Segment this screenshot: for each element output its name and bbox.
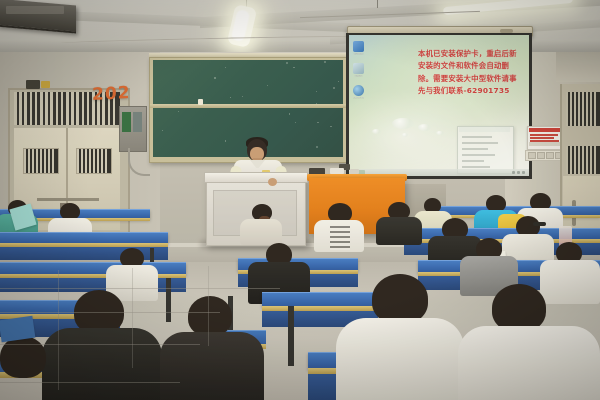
louver-slat	[71, 92, 74, 125]
chalk-dust	[316, 91, 317, 92]
louver-slat	[566, 146, 568, 174]
louver-slat	[590, 146, 592, 174]
floor-tile-line	[132, 268, 133, 368]
floor-tile-line	[0, 312, 220, 313]
louver-slat	[76, 92, 79, 125]
louver-slat	[97, 149, 99, 173]
louver-slat	[89, 149, 91, 173]
tray-icon[interactable]	[512, 171, 515, 174]
notice-line	[530, 137, 554, 139]
chalk-piece[interactable]	[198, 99, 203, 105]
door-louver-window	[23, 148, 59, 174]
wall-device-light	[41, 81, 50, 88]
louver-slat	[19, 92, 22, 125]
louver-slat	[24, 92, 27, 125]
dialog-row	[462, 136, 492, 138]
desk-row-front	[262, 292, 378, 307]
chalk-dust	[267, 85, 268, 86]
wallpaper-droplet	[392, 118, 414, 129]
student-body-foreground	[42, 328, 162, 400]
power-outlet[interactable]	[546, 152, 554, 159]
louver-slat	[48, 149, 50, 173]
student-shirt-pattern	[330, 226, 350, 250]
louver-slat	[586, 92, 588, 126]
student-body	[540, 260, 600, 304]
dialog-row	[462, 148, 488, 150]
louver-slat	[101, 149, 103, 173]
student-head-foreground	[188, 296, 232, 336]
louver-slat	[574, 92, 576, 126]
chalk-dust	[293, 67, 295, 69]
recycle-bin-glyph	[353, 63, 364, 74]
student-bag	[0, 316, 35, 343]
louver-slat	[93, 149, 95, 173]
chalk-dust	[333, 87, 335, 89]
recycle-bin-icon[interactable]: 回收站	[353, 63, 364, 77]
wallpaper-droplet	[402, 133, 408, 137]
louver-slat	[594, 92, 596, 126]
tray-icon[interactable]	[522, 171, 525, 174]
chalk-dust	[289, 113, 290, 114]
louver-slat	[56, 92, 59, 125]
louver-slat	[50, 92, 53, 125]
power-outlet[interactable]	[528, 152, 536, 159]
instructor-hand	[268, 178, 277, 186]
louver-slat	[574, 146, 576, 174]
desk-leg	[288, 306, 294, 366]
chalk-dust	[214, 77, 215, 78]
student-head-foreground	[372, 274, 428, 324]
louver-slat	[81, 149, 83, 173]
student-body-foreground	[160, 332, 264, 400]
door-louver-window	[76, 148, 112, 174]
louver-slat	[578, 146, 580, 174]
wallpaper-droplet	[436, 131, 444, 135]
door-handle[interactable]	[37, 198, 99, 201]
louver-slat	[578, 92, 580, 126]
chalk-dust	[295, 122, 296, 123]
internet-explorer-glyph	[353, 85, 364, 96]
louver-slat	[36, 149, 38, 173]
eyeglasses	[533, 222, 546, 226]
wallpaper-droplet	[418, 124, 431, 131]
dialog-row	[462, 154, 495, 156]
notice-line	[530, 134, 558, 136]
podium-top	[204, 172, 308, 183]
louver-slat	[61, 92, 64, 125]
chalk-dust	[225, 67, 226, 68]
my-computer-glyph	[353, 41, 364, 52]
electrical-panel-switch	[122, 112, 131, 132]
chalk-dust	[316, 146, 318, 148]
notice-footer	[529, 142, 561, 146]
right-door-barred-window	[566, 146, 600, 174]
chalk-dust	[230, 97, 231, 98]
tray-icon[interactable]	[517, 171, 520, 174]
chalk-dust	[178, 111, 179, 112]
louver-slat	[582, 146, 584, 174]
wall-device	[26, 80, 40, 89]
louver-slat	[52, 149, 54, 173]
air-conditioner-vent	[6, 6, 64, 14]
floor-tile-line	[208, 266, 209, 346]
louver-slat	[40, 149, 42, 173]
notice-header-band	[529, 128, 561, 132]
student-body-foreground	[336, 318, 464, 400]
dialog-row	[462, 142, 498, 144]
floor-tile-line	[0, 382, 180, 383]
floor-tile-line	[0, 344, 200, 345]
louver-slat	[82, 92, 85, 125]
dialog-row	[462, 160, 484, 162]
chalk-dust	[317, 122, 319, 124]
chalk-dust	[286, 62, 288, 64]
my-computer-icon[interactable]: 我的电脑	[353, 41, 364, 55]
louver-slat	[77, 149, 79, 173]
dialog-row	[462, 166, 490, 168]
power-outlet[interactable]	[537, 152, 545, 159]
student-head-foreground	[492, 284, 546, 332]
system-dialog-titlebar	[459, 127, 510, 132]
room-number-label: 202	[92, 83, 131, 105]
louver-slat	[85, 149, 87, 173]
floor-tile-line	[0, 288, 280, 289]
louver-slat	[566, 92, 568, 126]
louver-slat	[28, 149, 30, 173]
louver-slat	[87, 92, 90, 125]
student-body	[240, 219, 282, 245]
lamp-stem	[377, 0, 378, 8]
louver-slat	[35, 92, 38, 125]
student-body	[376, 217, 422, 245]
louver-slat	[32, 149, 34, 173]
louver-slat	[30, 92, 33, 125]
floor-tile-line	[58, 270, 59, 390]
chalk-dust	[225, 140, 227, 142]
louver-slat	[14, 92, 17, 125]
chalk-dust	[330, 126, 332, 128]
louver-slat	[590, 92, 592, 126]
student-body-foreground	[458, 326, 600, 400]
louver-slat	[582, 92, 584, 126]
right-wall-upper-window	[556, 52, 600, 82]
student-head-foreground	[0, 336, 46, 378]
louver-slat	[570, 146, 572, 174]
louver-slat	[66, 92, 69, 125]
blackboard-chalk-rail	[150, 104, 346, 108]
chalk-dust	[324, 61, 326, 63]
louver-slat	[586, 146, 588, 174]
desk-leg	[166, 278, 171, 322]
louver-slat	[40, 92, 43, 125]
right-door-barred-window	[566, 92, 600, 126]
classroom-photo: 202 我的电脑 回收站 Internet Explorer 本机已安装保护卡，…	[0, 0, 600, 400]
louver-slat	[594, 146, 596, 174]
projection-warning-text: 本机已安装保护卡，重启后新安装的文件和软件会自动删除。需要安装大中型软件请事先与…	[418, 48, 522, 98]
louver-slat	[570, 92, 572, 126]
louver-slat	[45, 92, 48, 125]
louver-slat	[105, 149, 107, 173]
wallpaper-droplet	[372, 129, 381, 134]
electrical-panel-switch	[133, 112, 142, 132]
louver-slat	[24, 149, 26, 173]
chalk-dust	[242, 96, 243, 97]
chalk-dust	[162, 130, 163, 131]
internet-explorer-icon[interactable]: Internet Explorer	[353, 85, 364, 99]
louver-slat	[44, 149, 46, 173]
chalk-dust	[338, 81, 339, 82]
